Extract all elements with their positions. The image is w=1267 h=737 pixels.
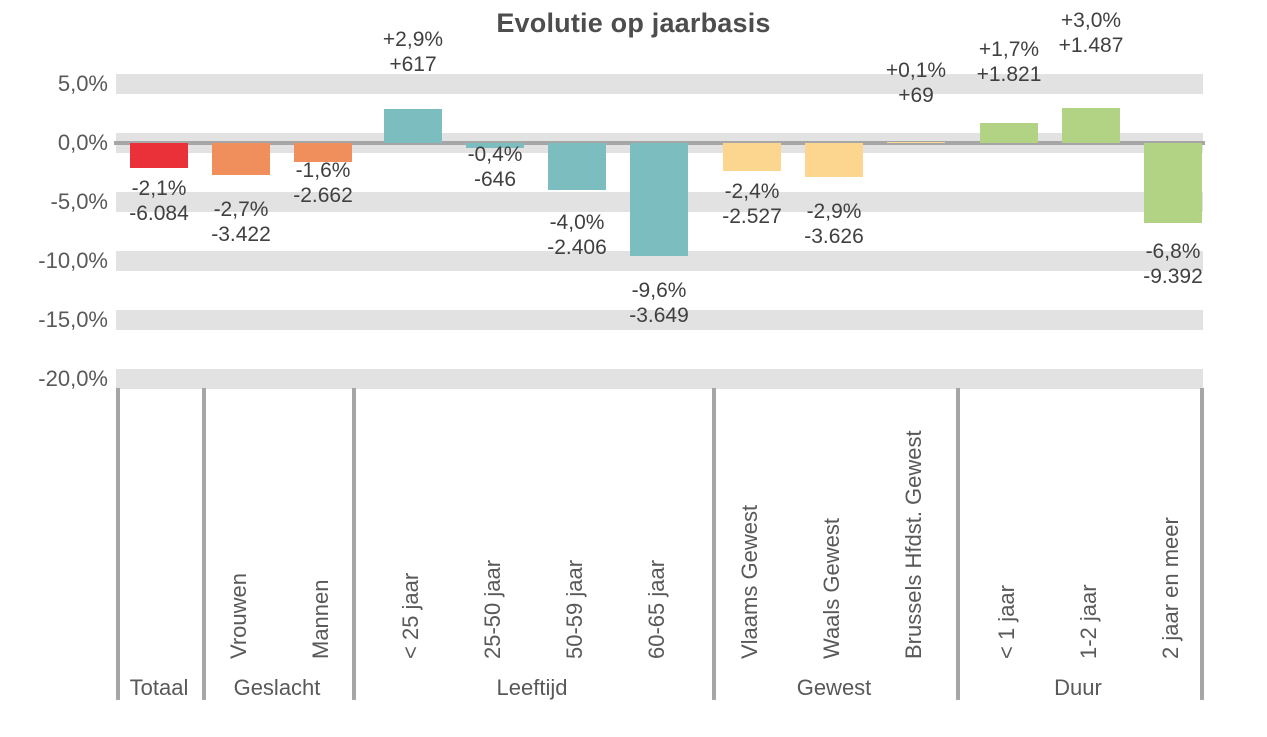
bar-9 <box>887 142 945 143</box>
category-label-3: < 25 jaar <box>398 573 424 659</box>
bar-12 <box>1144 143 1202 223</box>
category-label-9: Brussels Hfdst. Gewest <box>901 430 927 659</box>
group-separator-2 <box>352 388 356 700</box>
bar-abs-label-5: -2.406 <box>502 235 652 260</box>
y-axis-tick-5: -20,0% <box>0 369 108 389</box>
group-label-2: Leeftijd <box>352 675 712 701</box>
bar-data-label-12: -6,8%-9.392 <box>1098 239 1248 289</box>
bar-pct-label-3: +2,9% <box>338 27 488 52</box>
bar-7 <box>723 143 781 171</box>
group-label-4: Duur <box>956 675 1200 701</box>
bar-pct-label-5: -4,0% <box>502 210 652 235</box>
bar-data-label-5: -4,0%-2.406 <box>502 210 652 260</box>
y-axis-tick-1: 0,0% <box>0 133 108 153</box>
bar-pct-label-8: -2,9% <box>759 199 909 224</box>
bar-data-label-8: -2,9%-3.626 <box>759 199 909 249</box>
category-label-2: Mannen <box>308 579 334 659</box>
category-label-7: Vlaams Gewest <box>737 505 763 659</box>
bar-abs-label-1: -3.422 <box>166 222 316 247</box>
group-label-1: Geslacht <box>202 675 352 701</box>
plot-area: -2,1%-6.084-2,7%-3.422-1,6%-2.662+2,9%+6… <box>116 64 1203 388</box>
bar-abs-label-6: -3.649 <box>584 303 734 328</box>
category-label-4: 25-50 jaar <box>480 560 506 659</box>
gridline-band <box>116 369 1203 389</box>
bar-3 <box>384 109 442 143</box>
group-separator-5 <box>1200 388 1204 700</box>
bar-10 <box>980 123 1038 143</box>
group-label-3: Gewest <box>712 675 956 701</box>
bar-abs-label-2: -2.662 <box>248 183 398 208</box>
y-axis-tick-4: -15,0% <box>0 310 108 330</box>
category-axis: VrouwenMannen< 25 jaar25-50 jaar50-59 ja… <box>116 388 1203 703</box>
group-separator-0 <box>116 388 120 700</box>
bar-abs-label-3: +617 <box>338 52 488 77</box>
category-label-11: 1-2 jaar <box>1076 584 1102 659</box>
group-separator-1 <box>202 388 206 700</box>
group-separator-4 <box>956 388 960 700</box>
bar-data-label-11: +3,0%+1.487 <box>1016 8 1166 58</box>
y-axis-tick-0: 5,0% <box>0 74 108 94</box>
bar-abs-label-12: -9.392 <box>1098 264 1248 289</box>
bar-pct-label-2: -1,6% <box>248 158 398 183</box>
category-label-5: 50-59 jaar <box>562 560 588 659</box>
chart-canvas: Evolutie op jaarbasis 5,0%0,0%-5,0%-10,0… <box>0 0 1267 737</box>
group-separator-3 <box>712 388 716 700</box>
bar-data-label-3: +2,9%+617 <box>338 27 488 77</box>
bar-pct-label-12: -6,8% <box>1098 239 1248 264</box>
category-label-10: < 1 jaar <box>994 585 1020 659</box>
bar-11 <box>1062 108 1120 143</box>
bar-pct-label-11: +3,0% <box>1016 8 1166 33</box>
category-label-6: 60-65 jaar <box>644 560 670 659</box>
category-label-12: 2 jaar en meer <box>1158 517 1184 659</box>
bar-0 <box>130 143 188 168</box>
bar-abs-label-8: -3.626 <box>759 224 909 249</box>
bar-data-label-6: -9,6%-3.649 <box>584 278 734 328</box>
bar-8 <box>805 143 863 177</box>
category-label-8: Waals Gewest <box>819 518 845 659</box>
y-axis-tick-3: -10,0% <box>0 251 108 271</box>
bar-pct-label-6: -9,6% <box>584 278 734 303</box>
bar-data-label-4: -0,4%-646 <box>420 142 570 192</box>
bar-pct-label-4: -0,4% <box>420 142 570 167</box>
bar-abs-label-4: -646 <box>420 167 570 192</box>
bar-data-label-2: -1,6%-2.662 <box>248 158 398 208</box>
y-axis: 5,0%0,0%-5,0%-10,0%-15,0%-20,0% <box>0 64 108 404</box>
category-label-1: Vrouwen <box>226 573 252 659</box>
bar-abs-label-11: +1.487 <box>1016 33 1166 58</box>
bar-abs-label-10: +1.821 <box>934 62 1084 87</box>
group-label-0: Totaal <box>116 675 202 701</box>
